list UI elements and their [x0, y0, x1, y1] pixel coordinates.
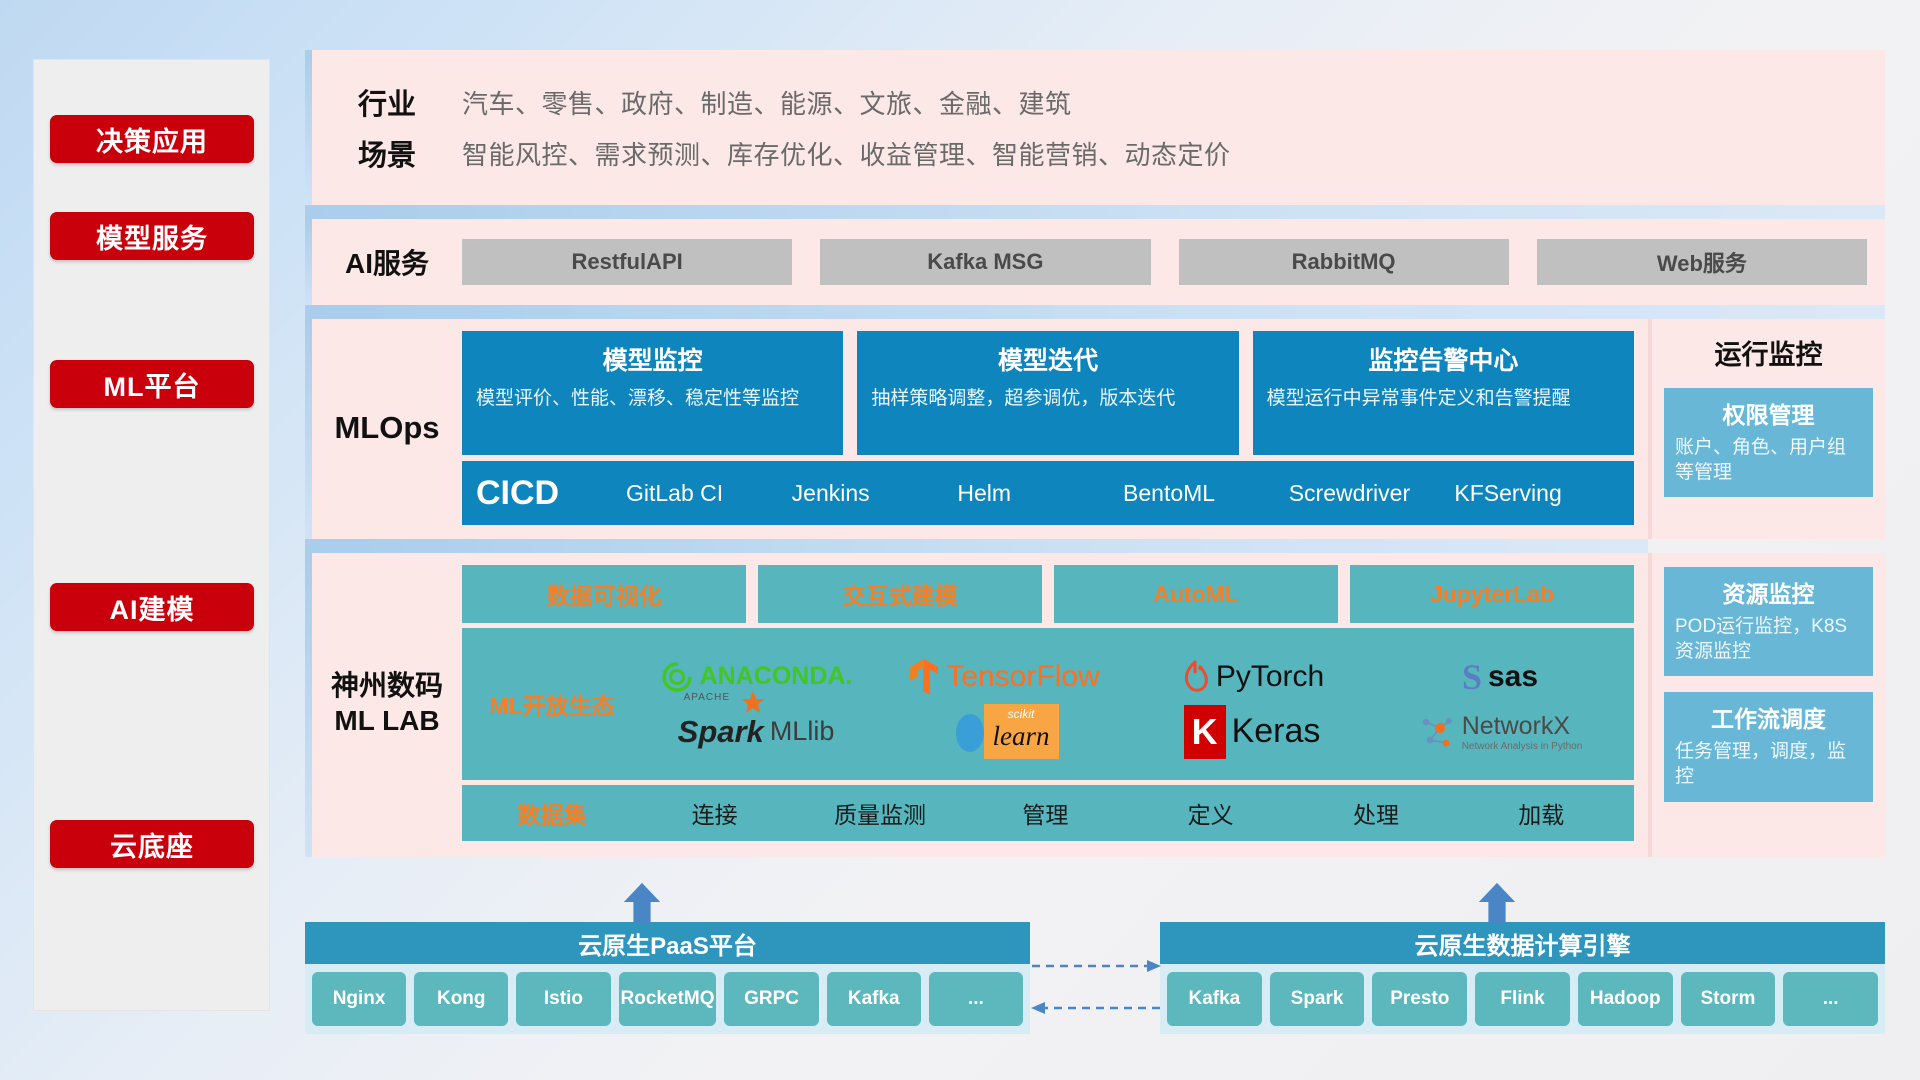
ml-ecosystem-label: ML开放生态 [472, 687, 632, 721]
scikit-word: scikit [993, 707, 1050, 721]
sas-mark: S [1462, 656, 1482, 698]
paas-chip-kong[interactable]: Kong [414, 972, 508, 1026]
paas-chip-istio[interactable]: Istio [516, 972, 610, 1026]
monitor-card-workflow[interactable]: 工作流调度 任务管理，调度，监控 [1664, 692, 1873, 801]
cicd-item-list: GitLab CI Jenkins Helm BentoML Screwdriv… [626, 482, 1620, 505]
compute-chip-flink[interactable]: Flink [1475, 972, 1570, 1026]
mlops-card-model-iteration[interactable]: 模型迭代 抽样策略调整，超参调优，版本迭代 [857, 331, 1238, 455]
scene-value: 智能风控、需求预测、库存优化、收益管理、智能营销、动态定价 [462, 135, 1231, 172]
ml-lab-tab-list: 数据可视化 交互式建模 AutoML JupyterLab [462, 565, 1634, 623]
ml-ecosystem-bar: ML开放生态 ANACONDA. [462, 628, 1634, 780]
card-title: 模型监控 [476, 341, 829, 377]
cloud-native-compute-group: 云原生数据计算引擎 Kafka Spark Presto Flink Hadoo… [1160, 922, 1885, 1034]
card-desc: 账户、角色、用户组等管理 [1675, 436, 1862, 485]
networkx-wordmark: NetworkX [1462, 712, 1583, 741]
sas-wordmark: sas [1488, 660, 1538, 694]
paas-chip-nginx[interactable]: Nginx [312, 972, 406, 1026]
industry-key: 行业 [312, 81, 462, 123]
anaconda-icon [660, 660, 694, 694]
paas-up-arrow-icon [620, 880, 664, 926]
card-desc: 抽样策略调整，超参调优，版本迭代 [871, 386, 1224, 411]
tab-jupyterlab[interactable]: JupyterLab [1350, 565, 1634, 623]
ml-lab-content: 数据可视化 交互式建模 AutoML JupyterLab ML开放生态 [462, 565, 1634, 841]
mlops-card-alert-center[interactable]: 监控告警中心 模型运行中异常事件定义和告警提醒 [1253, 331, 1634, 455]
compute-chip-hadoop[interactable]: Hadoop [1578, 972, 1673, 1026]
tensorflow-wordmark: TensorFlow [946, 660, 1099, 694]
apache-label: APACHE [684, 692, 730, 703]
rail-label: ML平台 [104, 365, 201, 404]
dataset-item-connect[interactable]: 连接 [632, 796, 797, 830]
dataset-bar: 数据集 连接 质量监测 管理 定义 处理 加载 [462, 785, 1634, 841]
band-divider [305, 305, 1885, 319]
mlops-zone: MLOps 模型监控 模型评价、性能、漂移、稳定性等监控 模型迭代 抽样策略调整… [305, 319, 1885, 539]
ai-service-chip-list: RestfulAPI Kafka MSG RabbitMQ Web服务 [462, 239, 1867, 285]
ai-chip-restfulapi[interactable]: RestfulAPI [462, 239, 792, 285]
ai-chip-rabbitmq[interactable]: RabbitMQ [1179, 239, 1509, 285]
dataset-label: 数据集 [472, 796, 632, 830]
runtime-monitor-column: 运行监控 权限管理 账户、角色、用户组等管理 [1648, 319, 1885, 539]
spark-mllib-logo[interactable]: APACHE Spark MLlib [678, 714, 835, 750]
compute-chip-presto[interactable]: Presto [1372, 972, 1467, 1026]
scikit-learn-logo[interactable]: scikit learn [950, 704, 1059, 759]
industry-scene-band: 行业 汽车、零售、政府、制造、能源、文旅、金融、建筑 场景 智能风控、需求预测、… [305, 50, 1885, 205]
rail-item-cloud-base[interactable]: 云底座 [50, 820, 254, 868]
card-desc: 任务管理，调度，监控 [1675, 740, 1862, 789]
compute-chip-storm[interactable]: Storm [1681, 972, 1776, 1026]
cicd-item-jenkins[interactable]: Jenkins [792, 482, 958, 505]
sas-logo[interactable]: S sas [1462, 656, 1538, 698]
paas-chip-rocketmq[interactable]: RocketMQ [619, 972, 717, 1026]
rail-label: AI建模 [110, 588, 195, 627]
ml-ecosystem-logo-grid: ANACONDA. TensorFlow [632, 649, 1624, 759]
runtime-monitor-title: 运行监控 [1664, 333, 1873, 372]
tab-interactive-modeling[interactable]: 交互式建模 [758, 565, 1042, 623]
monitor-card-resource[interactable]: 资源监控 POD运行监控，K8S资源监控 [1664, 567, 1873, 676]
networkx-icon [1418, 712, 1456, 752]
mlops-content: 模型监控 模型评价、性能、漂移、稳定性等监控 模型迭代 抽样策略调整，超参调优，… [462, 331, 1634, 525]
networkx-logo[interactable]: NetworkX Network Analysis in Python [1418, 712, 1583, 752]
rail-label: 决策应用 [96, 120, 208, 159]
anaconda-logo[interactable]: ANACONDA. [660, 660, 853, 694]
mlops-band: MLOps 模型监控 模型评价、性能、漂移、稳定性等监控 模型迭代 抽样策略调整… [305, 319, 1648, 539]
keras-logo[interactable]: K Keras [1184, 705, 1321, 759]
rail-label: 云底座 [110, 825, 194, 864]
card-desc: POD运行监控，K8S资源监控 [1675, 615, 1862, 664]
cloud-native-paas-group: 云原生PaaS平台 Nginx Kong Istio RocketMQ GRPC… [305, 922, 1030, 1034]
card-title: 监控告警中心 [1267, 341, 1620, 377]
rail-item-ml-platform[interactable]: ML平台 [50, 360, 254, 408]
ai-service-label: AI服务 [312, 242, 462, 282]
compute-engine-title: 云原生数据计算引擎 [1160, 922, 1885, 964]
band-divider [305, 205, 1885, 219]
mllib-wordmark: MLlib [770, 716, 835, 747]
pytorch-wordmark: PyTorch [1216, 660, 1324, 694]
cicd-item-bentoml[interactable]: BentoML [1123, 482, 1289, 505]
ml-lab-label-line2: ML LAB [312, 703, 462, 738]
runtime-monitor-column-lower: 资源监控 POD运行监控，K8S资源监控 工作流调度 任务管理，调度，监控 [1648, 553, 1885, 857]
dataset-item-process[interactable]: 处理 [1293, 796, 1458, 830]
tensorflow-icon [908, 657, 940, 697]
bidirectional-link-icon [1030, 958, 1162, 1020]
card-desc: 模型运行中异常事件定义和告警提醒 [1267, 386, 1620, 411]
compute-chip-kafka[interactable]: Kafka [1167, 972, 1262, 1026]
card-desc: 模型评价、性能、漂移、稳定性等监控 [476, 386, 829, 411]
industry-row: 行业 汽车、零售、政府、制造、能源、文旅、金融、建筑 [312, 81, 1865, 123]
tab-automl[interactable]: AutoML [1054, 565, 1338, 623]
mlops-label: MLOps [312, 410, 462, 446]
architecture-stack: 行业 汽车、零售、政府、制造、能源、文旅、金融、建筑 场景 智能风控、需求预测、… [305, 50, 1885, 857]
tensorflow-logo[interactable]: TensorFlow [908, 657, 1099, 697]
cicd-item-gitlab-ci[interactable]: GitLab CI [626, 482, 792, 505]
industry-value: 汽车、零售、政府、制造、能源、文旅、金融、建筑 [462, 84, 1072, 121]
rail-label: 模型服务 [96, 217, 208, 256]
ai-service-band: AI服务 RestfulAPI Kafka MSG RabbitMQ Web服务 [305, 219, 1885, 305]
card-title: 资源监控 [1675, 575, 1862, 609]
rail-item-model-service[interactable]: 模型服务 [50, 212, 254, 260]
ml-lab-label: 神州数码 ML LAB [312, 668, 462, 738]
pytorch-logo[interactable]: PyTorch [1180, 659, 1324, 695]
keras-wordmark: Keras [1232, 712, 1321, 751]
paas-chip-list: Nginx Kong Istio RocketMQ GRPC Kafka ... [305, 964, 1030, 1034]
rail-item-decision-app[interactable]: 决策应用 [50, 115, 254, 163]
ai-modeling-zone: 神州数码 ML LAB 数据可视化 交互式建模 AutoML JupyterLa… [305, 553, 1885, 857]
dataset-item-list: 连接 质量监测 管理 定义 处理 加载 [632, 796, 1624, 830]
spark-wordmark: Spark [678, 714, 764, 750]
monitor-card-permission[interactable]: 权限管理 账户、角色、用户组等管理 [1664, 388, 1873, 497]
dataset-item-define[interactable]: 定义 [1128, 796, 1293, 830]
ai-modeling-band: 神州数码 ML LAB 数据可视化 交互式建模 AutoML JupyterLa… [305, 553, 1648, 857]
compute-up-arrow-icon [1475, 880, 1519, 926]
cicd-title: CICD [476, 474, 626, 513]
compute-chip-spark[interactable]: Spark [1270, 972, 1365, 1026]
keras-mark: K [1184, 705, 1226, 759]
ai-chip-kafka-msg[interactable]: Kafka MSG [820, 239, 1150, 285]
cloud-foundation-zone: 云原生PaaS平台 Nginx Kong Istio RocketMQ GRPC… [305, 880, 1885, 1040]
mlops-card-list: 模型监控 模型评价、性能、漂移、稳定性等监控 模型迭代 抽样策略调整，超参调优，… [462, 331, 1634, 455]
cicd-item-kfserving[interactable]: KFServing [1454, 482, 1620, 505]
ml-lab-label-line1: 神州数码 [312, 668, 462, 703]
dataset-item-quality-monitor[interactable]: 质量监测 [797, 796, 962, 830]
card-title: 模型迭代 [871, 341, 1224, 377]
band-divider [305, 539, 1648, 553]
left-stage-rail: 决策应用 模型服务 ML平台 AI建模 云底座 [34, 60, 269, 1010]
mlops-card-model-monitor[interactable]: 模型监控 模型评价、性能、漂移、稳定性等监控 [462, 331, 843, 455]
paas-title: 云原生PaaS平台 [305, 922, 1030, 964]
spark-star-icon [740, 690, 766, 716]
scene-row: 场景 智能风控、需求预测、库存优化、收益管理、智能营销、动态定价 [312, 132, 1865, 174]
learn-word: learn [993, 721, 1050, 752]
tab-data-visualization[interactable]: 数据可视化 [462, 565, 746, 623]
rail-item-ai-modeling[interactable]: AI建模 [50, 583, 254, 631]
dataset-item-manage[interactable]: 管理 [963, 796, 1128, 830]
networkx-tagline: Network Analysis in Python [1462, 741, 1583, 752]
cicd-item-screwdriver[interactable]: Screwdriver [1289, 482, 1455, 505]
paas-chip-kafka[interactable]: Kafka [827, 972, 921, 1026]
scene-key: 场景 [312, 132, 462, 174]
card-title: 工作流调度 [1675, 700, 1862, 734]
paas-chip-grpc[interactable]: GRPC [724, 972, 818, 1026]
compute-chip-more[interactable]: ... [1783, 972, 1878, 1026]
ai-chip-web-service[interactable]: Web服务 [1537, 239, 1867, 285]
dataset-item-load[interactable]: 加载 [1459, 796, 1624, 830]
compute-chip-list: Kafka Spark Presto Flink Hadoop Storm ..… [1160, 964, 1885, 1034]
pytorch-icon [1180, 659, 1210, 695]
cicd-bar: CICD GitLab CI Jenkins Helm BentoML Scre… [462, 461, 1634, 525]
anaconda-wordmark: ANACONDA. [700, 662, 853, 691]
card-title: 权限管理 [1675, 396, 1862, 430]
paas-chip-more[interactable]: ... [929, 972, 1023, 1026]
cicd-item-helm[interactable]: Helm [957, 482, 1123, 505]
